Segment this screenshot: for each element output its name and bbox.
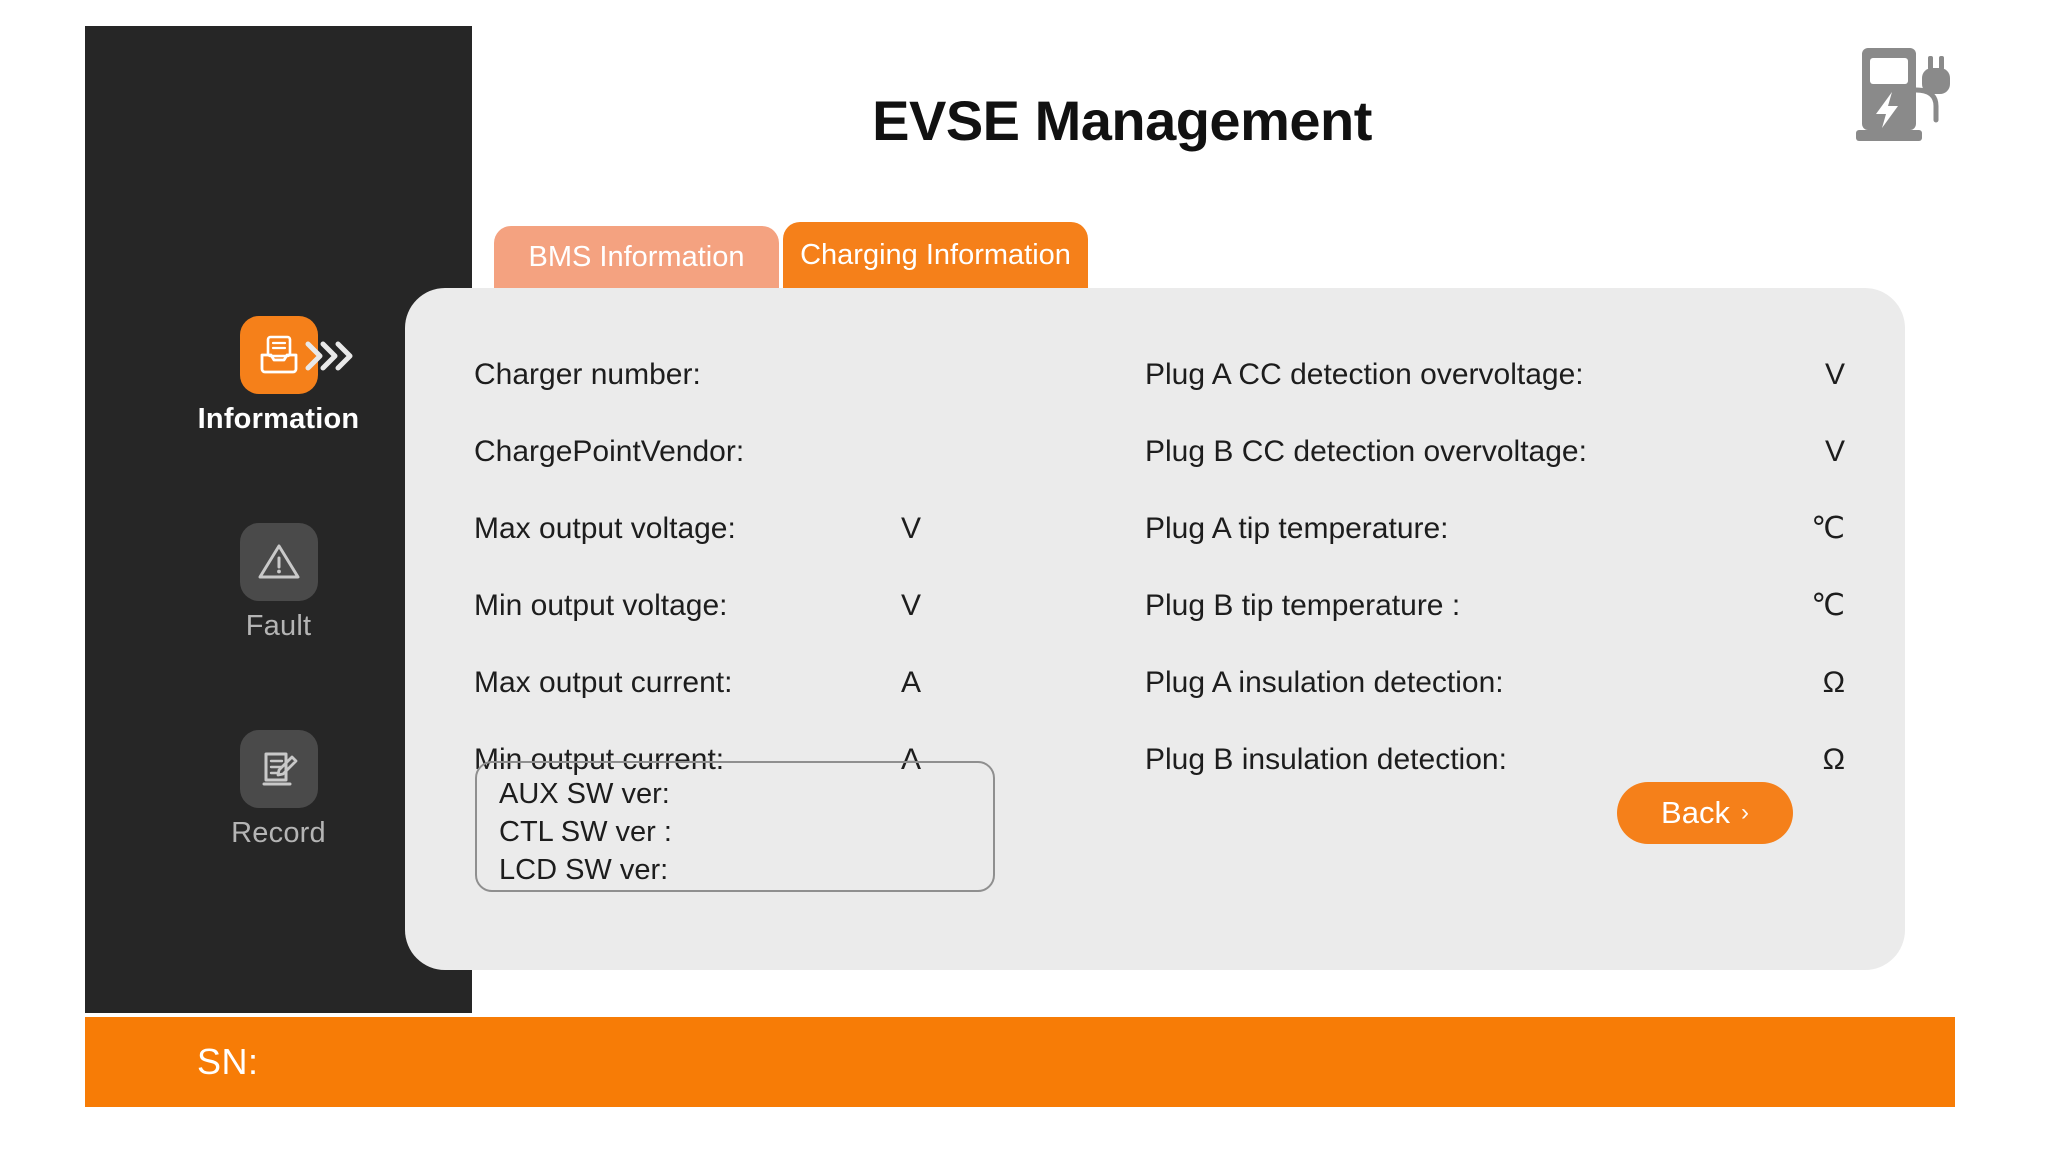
- document-pencil-icon: [240, 730, 318, 808]
- info-unit: V: [801, 589, 921, 623]
- triple-chevron-right-icon[interactable]: [302, 334, 362, 378]
- back-button[interactable]: Back ›: [1617, 782, 1793, 844]
- info-unit: Ω: [1725, 743, 1845, 777]
- lcd-sw-version: LCD SW ver:: [499, 851, 993, 889]
- info-label: Plug A CC detection overvoltage:: [1145, 358, 1584, 392]
- serial-number-bar: SN:: [85, 1017, 1955, 1107]
- info-label: Plug B insulation detection:: [1145, 743, 1507, 777]
- sidebar-item-information-row: [240, 316, 318, 394]
- info-row: Plug B tip temperature : ℃: [1145, 567, 1845, 644]
- aux-sw-version: AUX SW ver:: [499, 775, 993, 813]
- warning-triangle-icon: [240, 523, 318, 601]
- info-label: Plug A tip temperature:: [1145, 512, 1449, 546]
- back-button-label: Back: [1661, 795, 1730, 831]
- tab-bms-information[interactable]: BMS Information: [494, 226, 779, 288]
- ctl-sw-version: CTL SW ver :: [499, 813, 993, 851]
- info-label: Min output voltage:: [474, 589, 728, 623]
- info-row: ChargePointVendor:: [474, 413, 1034, 490]
- info-label: Max output voltage:: [474, 512, 736, 546]
- info-row: Plug A tip temperature: ℃: [1145, 490, 1845, 567]
- info-row: Plug A insulation detection: Ω: [1145, 644, 1845, 721]
- info-unit: V: [1725, 435, 1845, 469]
- info-row: Plug B CC detection overvoltage: V: [1145, 413, 1845, 490]
- info-row: Min output voltage: V: [474, 567, 1034, 644]
- info-label: Max output current:: [474, 666, 732, 700]
- software-version-box: AUX SW ver: CTL SW ver : LCD SW ver:: [475, 761, 995, 892]
- info-unit: V: [801, 512, 921, 546]
- ev-charging-station-icon: [1856, 38, 1956, 143]
- serial-number-label: SN:: [197, 1041, 259, 1083]
- info-unit: ℃: [1725, 588, 1845, 623]
- info-row: Max output voltage: V: [474, 490, 1034, 567]
- info-label: Charger number:: [474, 358, 701, 392]
- charging-information-panel: Charger number: ChargePointVendor: Max o…: [405, 288, 1905, 970]
- info-column-left: Charger number: ChargePointVendor: Max o…: [474, 336, 1034, 798]
- info-label: Plug A insulation detection:: [1145, 666, 1504, 700]
- evse-management-screen: EVSE Management: [0, 0, 2048, 1151]
- tab-bar: BMS Information Charging Information: [494, 222, 1088, 288]
- info-row: Charger number:: [474, 336, 1034, 413]
- info-label: Plug B tip temperature :: [1145, 589, 1460, 623]
- info-column-right: Plug A CC detection overvoltage: V Plug …: [1145, 336, 1845, 798]
- info-label: ChargePointVendor:: [474, 435, 744, 469]
- page-title: EVSE Management: [472, 88, 1772, 153]
- info-unit: Ω: [1725, 666, 1845, 700]
- tab-charging-information[interactable]: Charging Information: [783, 222, 1088, 288]
- info-unit: A: [801, 666, 921, 700]
- info-unit: ℃: [1725, 511, 1845, 546]
- info-row: Plug A CC detection overvoltage: V: [1145, 336, 1845, 413]
- info-row: Max output current: A: [474, 644, 1034, 721]
- chevron-right-icon: ›: [1741, 801, 1749, 825]
- info-unit: V: [1725, 358, 1845, 392]
- info-label: Plug B CC detection overvoltage:: [1145, 435, 1587, 469]
